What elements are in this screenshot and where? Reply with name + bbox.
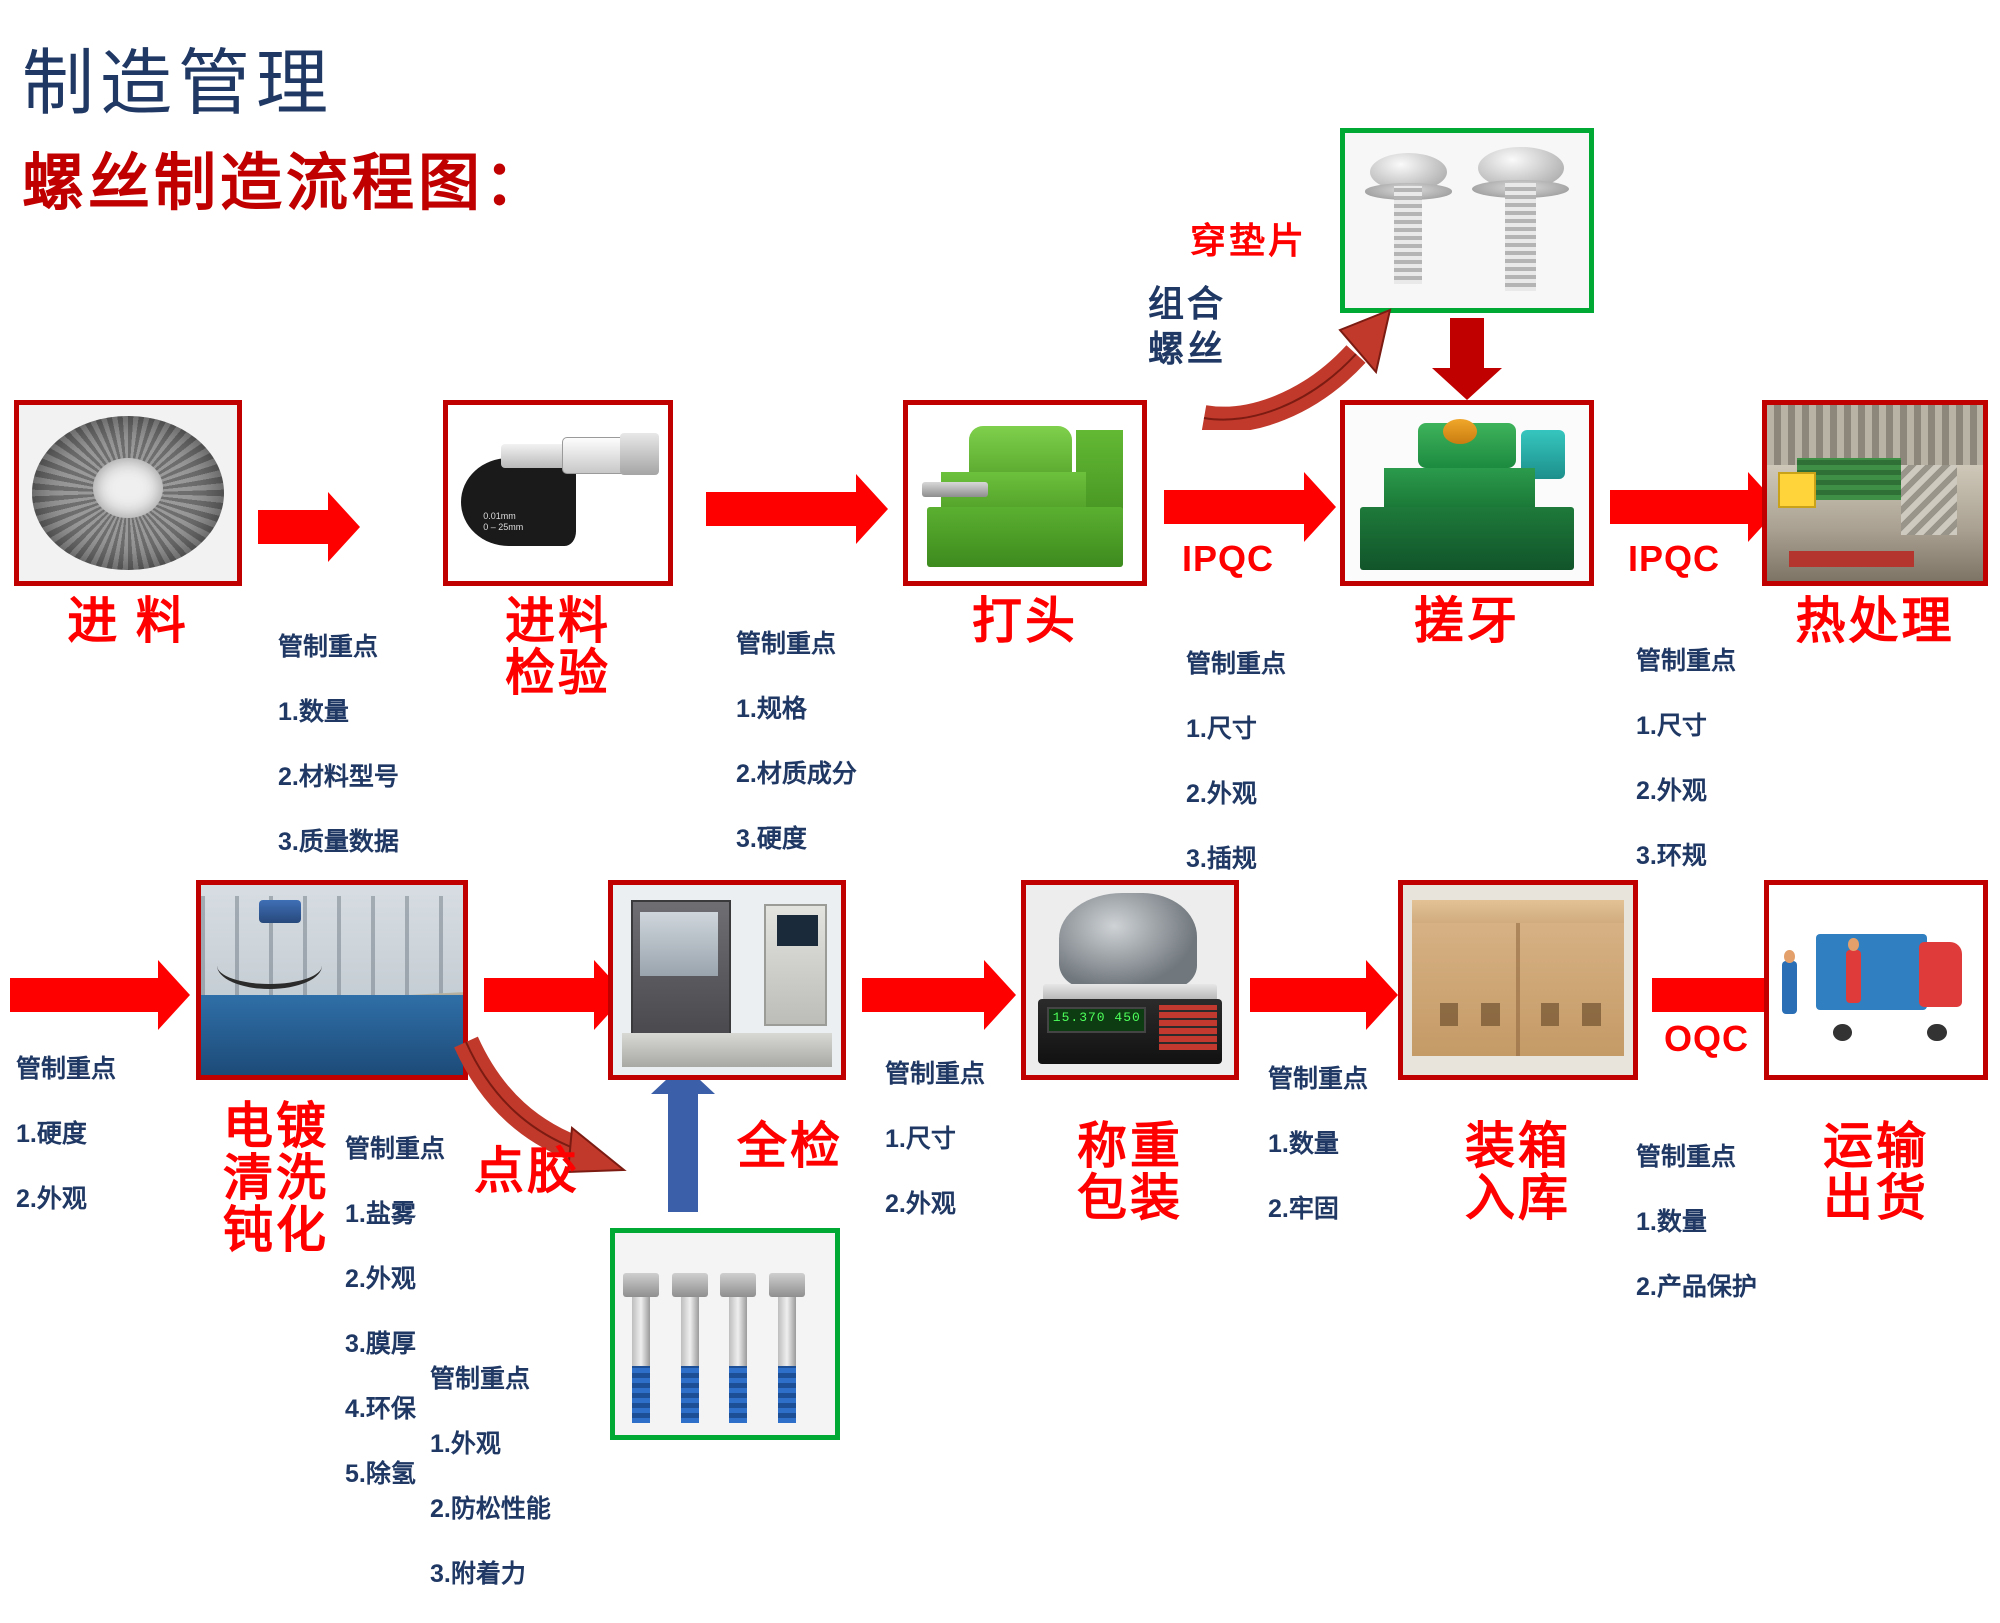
caption-weighing-packing: 称重 包装 — [1021, 1120, 1239, 1224]
control-points-header: 管制重点 — [16, 1053, 176, 1086]
photo-inspection-machine — [608, 880, 846, 1080]
photo-wire-coil — [14, 400, 242, 586]
control-point-item: 2.防松性能 — [430, 1493, 620, 1526]
annotation-washer: 穿垫片 — [1190, 212, 1307, 264]
control-points-header: 管制重点 — [736, 628, 926, 661]
arrow-inspection-to-weighing — [862, 978, 986, 1012]
photo-delivery-truck — [1764, 880, 1988, 1080]
caption-plating: 电镀 清洗 钝化 — [196, 1100, 356, 1256]
page-subtitle: 螺丝制造流程图： — [22, 132, 550, 222]
control-points-heat-treatment: 管制重点 1.硬度 2.外观 — [16, 1020, 176, 1248]
control-point-item: 2.外观 — [345, 1263, 515, 1296]
caption-thread-rolling: 搓牙 — [1340, 595, 1594, 647]
control-point-item: 3.硬度 — [736, 823, 926, 856]
arrow-rolling-to-heat-treatment — [1610, 490, 1750, 524]
control-points-thread-rolling: 管制重点 1.尺寸 2.外观 3.环规 — [1636, 612, 1806, 905]
photo-thread-rolling-machine — [1340, 400, 1594, 586]
arrow-plating-to-inspection — [484, 978, 596, 1012]
photo-combination-screw — [1340, 128, 1594, 313]
qc-label-oqc: OQC — [1664, 1018, 1749, 1060]
page-title: 制造管理 — [22, 24, 334, 129]
photo-micrometer: 0.01mm0 – 25mm — [443, 400, 673, 586]
control-point-item: 3.环规 — [1636, 840, 1806, 873]
control-point-item: 2.外观 — [1636, 775, 1806, 808]
control-point-item: 1.硬度 — [16, 1118, 176, 1151]
photo-glued-bolts — [610, 1228, 840, 1440]
photo-heading-machine — [903, 400, 1147, 586]
control-point-item: 1.盐雾 — [345, 1198, 515, 1231]
micrometer-scale-text: 0.01mm0 – 25mm — [483, 511, 523, 534]
control-point-item: 3.插规 — [1186, 843, 1356, 876]
photo-weighing-scale: 15.370 450 — [1021, 880, 1239, 1080]
control-point-item: 2.材料型号 — [278, 761, 458, 794]
caption-heading: 打头 — [903, 595, 1147, 647]
control-point-item: 1.尺寸 — [1636, 710, 1806, 743]
control-point-item: 2.外观 — [1186, 778, 1356, 811]
control-point-item: 1.数量 — [278, 696, 458, 729]
qc-label-ipqc-1: IPQC — [1182, 538, 1274, 580]
caption-heat-treatment: 热处理 — [1752, 595, 1998, 647]
control-points-header: 管制重点 — [430, 1363, 620, 1396]
arrow-weighing-to-boxing — [1250, 978, 1368, 1012]
control-points-incoming-material: 管制重点 1.数量 2.材料型号 3.质量数据 — [278, 598, 458, 891]
arrow-inspection-to-heading — [706, 492, 858, 526]
caption-incoming-material: 进 料 — [14, 595, 242, 647]
control-points-heading: 管制重点 1.尺寸 2.外观 3.插规 — [1186, 615, 1356, 908]
control-points-glue: 管制重点 1.外观 2.防松性能 3.附着力 — [430, 1330, 620, 1623]
control-point-item: 1.尺寸 — [1186, 713, 1356, 746]
caption-boxing-warehousing: 装箱 入库 — [1398, 1120, 1638, 1224]
caption-glue-dispensing: 点胶 — [452, 1145, 602, 1197]
photo-plating-line — [196, 880, 468, 1080]
arrow-material-to-inspection — [258, 510, 330, 544]
control-point-item: 1.规格 — [736, 693, 926, 726]
control-points-header: 管制重点 — [1186, 648, 1356, 681]
photo-carton-box — [1398, 880, 1638, 1080]
control-point-item: 2.产品保护 — [1636, 1271, 1826, 1304]
control-point-item: 2.外观 — [16, 1183, 176, 1216]
arrow-glue-to-inspection — [668, 1092, 698, 1212]
arrow-combination-to-rolling — [1450, 318, 1484, 370]
control-point-item: 2.材质成分 — [736, 758, 926, 791]
control-points-header: 管制重点 — [278, 631, 458, 664]
caption-shipping: 运输 出货 — [1764, 1120, 1988, 1224]
arrow-into-plating — [10, 978, 160, 1012]
control-points-header: 管制重点 — [1636, 645, 1806, 678]
arrow-heading-to-rolling — [1164, 490, 1306, 524]
control-point-item: 3.质量数据 — [278, 826, 458, 859]
scale-display-value: 15.370 450 — [1049, 1009, 1145, 1027]
qc-label-ipqc-2: IPQC — [1628, 538, 1720, 580]
photo-heat-treatment — [1762, 400, 1988, 586]
control-point-item: 1.外观 — [430, 1428, 620, 1461]
caption-full-inspection: 全检 — [700, 1120, 880, 1172]
control-point-item: 3.附着力 — [430, 1558, 620, 1591]
arrow-boxing-to-shipping — [1652, 978, 1770, 1012]
caption-incoming-inspection: 进料 检验 — [443, 595, 673, 699]
